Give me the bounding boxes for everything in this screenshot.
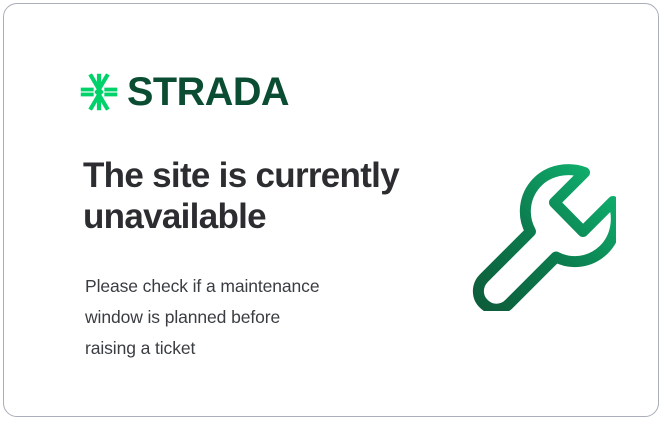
page-title: The site is currently unavailable: [83, 155, 413, 238]
description-line: raising a ticket: [85, 333, 395, 364]
status-card: STRADA The site is currently unavailable…: [3, 3, 659, 417]
error-page: STRADA The site is currently unavailable…: [0, 0, 666, 436]
strada-asterisk-logo-mark: [80, 73, 118, 111]
brand-logo: STRADA: [80, 72, 291, 112]
wrench-icon: [456, 156, 616, 311]
description-line: Please check if a maintenance: [85, 271, 395, 302]
description-line: window is planned before: [85, 302, 395, 333]
brand-wordmark: STRADA: [127, 72, 289, 112]
page-description: Please check if a maintenance window is …: [85, 271, 395, 364]
